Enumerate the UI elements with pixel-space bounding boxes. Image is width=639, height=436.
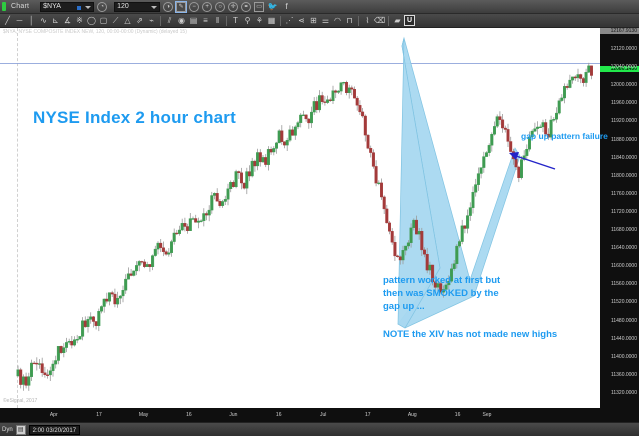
price-tick: 11840.0000: [611, 155, 637, 161]
price-tick: 12040.0000: [611, 64, 637, 70]
time-tick: 16: [276, 412, 282, 418]
price-tick: 11800.0000: [611, 173, 637, 179]
fib-extension-tool-icon[interactable]: ≡: [200, 15, 211, 26]
crosshair-icon[interactable]: ✛: [228, 2, 238, 12]
symbol-value: $NYA: [43, 2, 61, 11]
chevron-down-icon-period[interactable]: [151, 6, 157, 9]
time-tick: 16: [186, 412, 192, 418]
title-bar: Chart $NYA ◔ 120 ◑ ✎ − + ○ ✛ ⚭ ▭ 🐦 f: [0, 0, 639, 14]
app-title: Chart: [11, 3, 29, 10]
time-tick: May: [139, 412, 148, 418]
arc-tool-icon[interactable]: ◠: [332, 15, 343, 26]
fan-tool-icon[interactable]: ※: [74, 15, 85, 26]
time-template-icon[interactable]: ◑: [163, 2, 173, 12]
toolbar-divider-3: [280, 16, 281, 26]
zoom-reset-icon[interactable]: ○: [215, 2, 225, 12]
time-tick: Apr: [50, 412, 58, 418]
status-timestamp: 2:00 03/20/2017: [29, 425, 80, 435]
time-tick: 16: [455, 412, 461, 418]
price-tick: 11320.0000: [611, 390, 637, 396]
chart-application: Chart $NYA ◔ 120 ◑ ✎ − + ○ ✛ ⚭ ▭ 🐦 f ╱ ─…: [0, 0, 639, 436]
price-tick: 11480.0000: [611, 318, 637, 324]
ray-tool-icon[interactable]: ⊾: [50, 15, 61, 26]
cursor-price-label: 12167.9130: [600, 28, 639, 34]
trendline-tool-icon[interactable]: ╱: [2, 15, 13, 26]
price-tick: 11680.0000: [611, 227, 637, 233]
ellipse-tool-icon[interactable]: ◯: [86, 15, 97, 26]
period-value: 120: [117, 2, 129, 11]
flag-tool-icon[interactable]: ⚘: [254, 15, 265, 26]
cycles-tool-icon[interactable]: ⌁: [146, 15, 157, 26]
facebook-icon[interactable]: f: [281, 2, 292, 12]
comment-tool-icon[interactable]: ▰: [392, 15, 403, 26]
candlestick-series: [0, 28, 600, 408]
fib-circle-tool-icon[interactable]: ◉: [176, 15, 187, 26]
time-tick: Sep: [483, 412, 492, 418]
price-tick: 11560.0000: [611, 281, 637, 287]
zigzag-tool-icon[interactable]: ∿: [38, 15, 49, 26]
text-tool-icon[interactable]: T: [230, 15, 241, 26]
time-tick: Jun: [229, 412, 237, 418]
fib-timezone-tool-icon[interactable]: ▤: [188, 15, 199, 26]
price-tick: 11880.0000: [611, 137, 637, 143]
annotation-note-line4: NOTE the XIV has not made new highs: [383, 328, 557, 341]
price-tick: 11720.0000: [611, 209, 637, 215]
price-tick: 11920.0000: [611, 118, 637, 124]
box-tool-icon[interactable]: ▦: [266, 15, 277, 26]
gap-up-arrow-icon: [495, 146, 600, 186]
fib-retracement-tool-icon[interactable]: ⫽: [164, 15, 175, 26]
price-axis[interactable]: 12167.9130 12080.1430 12120.000012040.00…: [600, 28, 639, 408]
price-tick: 12120.0000: [611, 46, 637, 52]
twitter-icon[interactable]: 🐦: [267, 2, 278, 12]
rectangle-tool-icon[interactable]: ▢: [98, 15, 109, 26]
symbol-status-dot: [77, 6, 81, 10]
polyline-tool-icon[interactable]: ⇗: [134, 15, 145, 26]
price-tick: 11600.0000: [611, 263, 637, 269]
toolbar-divider-1: [160, 16, 161, 26]
undo-tool-icon[interactable]: U: [404, 15, 415, 26]
zoom-in-icon[interactable]: +: [202, 2, 212, 12]
zoom-out-icon[interactable]: −: [189, 2, 199, 12]
price-tick: 11760.0000: [611, 191, 637, 197]
time-tick: 17: [365, 412, 371, 418]
status-mode-label: Dyn: [2, 427, 13, 433]
horizontal-line-tool-icon[interactable]: ─: [14, 15, 25, 26]
channel-tool-icon[interactable]: ⊓: [344, 15, 355, 26]
pitchfork-tool-icon[interactable]: ⋖: [296, 15, 307, 26]
link-icon[interactable]: ⚭: [241, 2, 251, 12]
pencil-icon[interactable]: ✎: [176, 2, 186, 12]
symbol-input[interactable]: $NYA: [40, 2, 94, 12]
price-tick: 11640.0000: [611, 245, 637, 251]
price-tick: 11400.0000: [611, 354, 637, 360]
angle-tool-icon[interactable]: ∡: [62, 15, 73, 26]
price-tick: 11360.0000: [611, 372, 637, 378]
chevron-down-icon[interactable]: [85, 6, 91, 9]
toolbar-divider-5: [388, 16, 389, 26]
toolbar-divider-2: [226, 16, 227, 26]
time-tick: Aug: [408, 412, 417, 418]
annotation-note-line3: gap up ...: [383, 300, 425, 313]
time-tick: Jul: [320, 412, 326, 418]
chart-canvas[interactable]: $NYA, NYSE COMPOSITE INDEX NEW, 120, 00:…: [0, 28, 639, 422]
time-axis[interactable]: Apr17May16Jun16Jul17Aug16Sep: [0, 408, 639, 422]
period-input[interactable]: 120: [114, 2, 160, 12]
price-tick: 11520.0000: [611, 299, 637, 305]
note-icon[interactable]: ▭: [254, 2, 264, 12]
annotation-note-line1: pattern worked at first but: [383, 274, 500, 287]
time-tick: 17: [96, 412, 102, 418]
price-tick: 11960.0000: [611, 100, 637, 106]
clock-icon[interactable]: ◔: [97, 2, 107, 12]
vertical-line-tool-icon[interactable]: │: [26, 15, 37, 26]
parallelogram-tool-icon[interactable]: ⟋: [110, 15, 121, 26]
annotation-main-title: NYSE Index 2 hour chart: [33, 108, 236, 128]
regression-tool-icon[interactable]: ⋰: [284, 15, 295, 26]
copyright-label: ©eSignal, 2017: [3, 398, 37, 404]
app-logo-icon: [2, 2, 6, 11]
balloon-tool-icon[interactable]: ⚲: [242, 15, 253, 26]
price-tick: 11440.0000: [611, 336, 637, 342]
bars-pattern-tool-icon[interactable]: ‖: [212, 15, 223, 26]
equal-tool-icon[interactable]: ⚌: [320, 15, 331, 26]
calendar-icon[interactable]: ▤: [16, 425, 26, 435]
wave-tool-icon[interactable]: ⌇: [362, 15, 373, 26]
triangle-tool-icon[interactable]: △: [122, 15, 133, 26]
drawing-toolbar: ╱ ─ │ ∿ ⊾ ∡ ※ ◯ ▢ ⟋ △ ⇗ ⌁ ⫽ ◉ ▤ ≡ ‖ T ⚲ …: [0, 14, 639, 28]
annotation-gap-up-label: gap up pattern failure: [521, 131, 608, 141]
annotation-note-line2: then was SMOKED by the: [383, 287, 499, 300]
price-plot-area[interactable]: [0, 28, 600, 408]
eraser-tool-icon[interactable]: ⌫: [374, 15, 385, 26]
grid-tool-icon[interactable]: ⊞: [308, 15, 319, 26]
status-bar: Dyn ▤ 2:00 03/20/2017: [0, 422, 639, 436]
price-tick: 12000.0000: [611, 82, 637, 88]
toolbar-divider-4: [358, 16, 359, 26]
